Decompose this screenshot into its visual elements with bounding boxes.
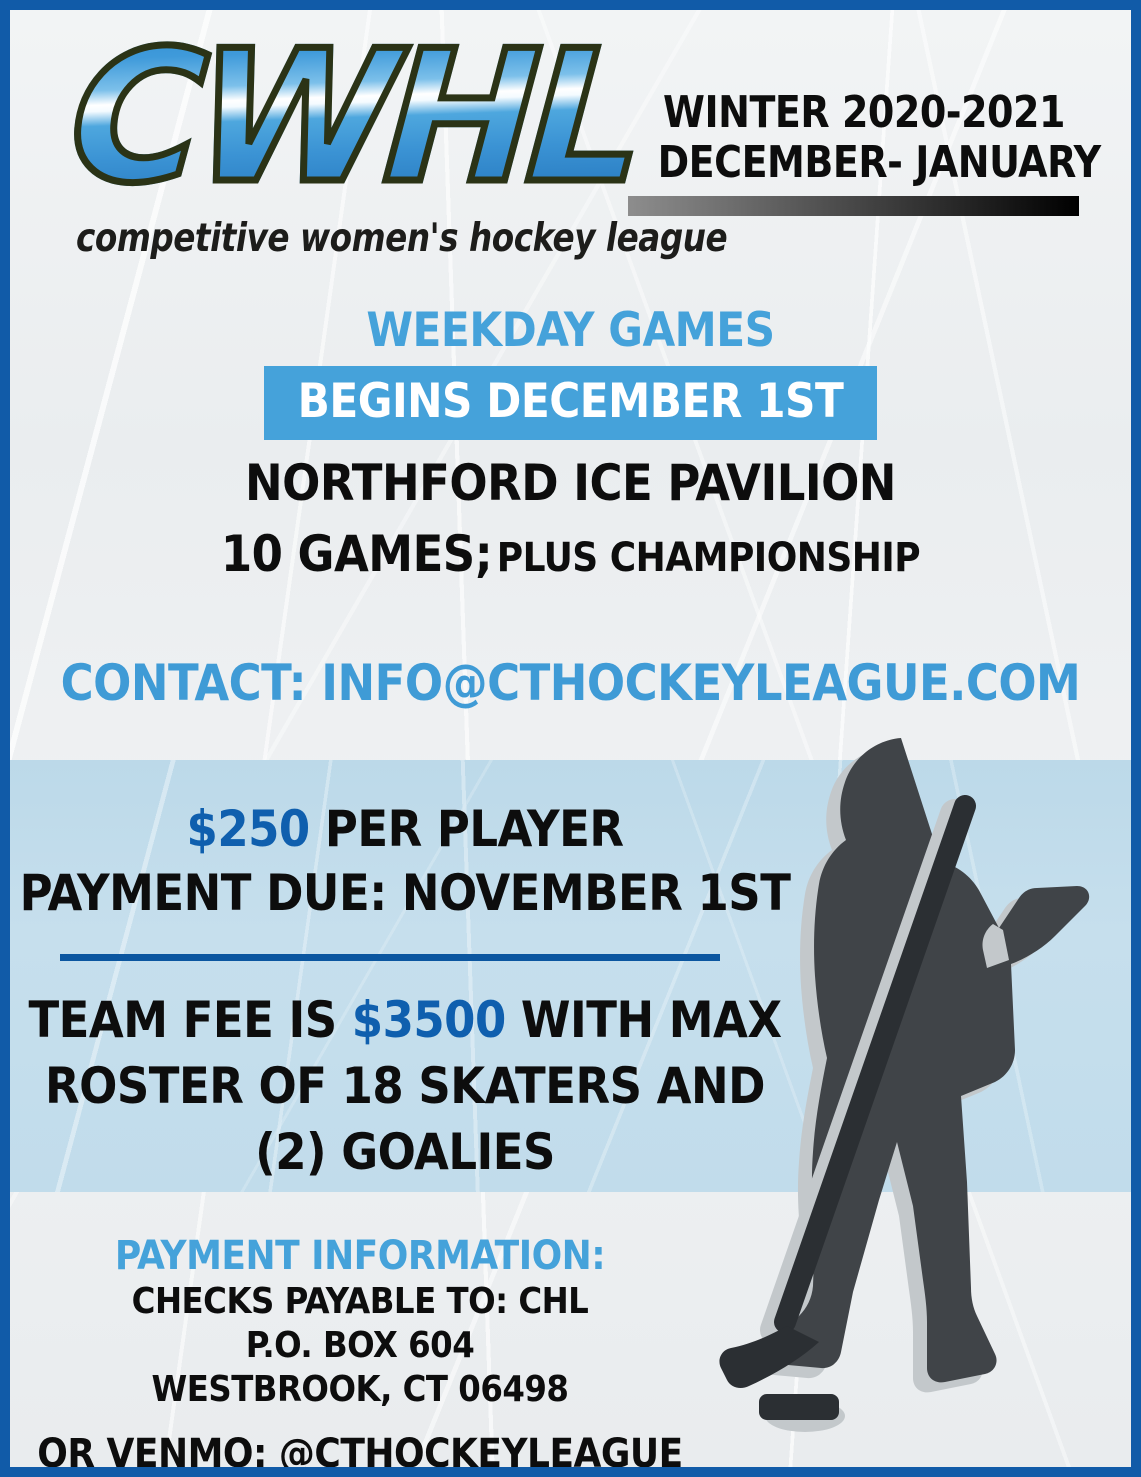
cwhl-logo-tagline: competitive women's hockey league — [76, 218, 612, 260]
season-dates: WINTER 2020-2021 DECEMBER- JANUARY — [649, 88, 1079, 188]
payment-city-line: WESTBROOK, CT 06498 — [10, 1368, 710, 1412]
league-info-block: WEEKDAY GAMES BEGINS DECEMBER 1ST NORTHF… — [10, 304, 1131, 596]
fees-divider — [60, 954, 720, 961]
games-count-line: 10 GAMES; PLUS CHAMPIONSHIP — [10, 524, 1131, 596]
contact-email-line[interactable]: CONTACT: INFO@CTHOCKEYLEAGUE.COM — [10, 654, 1131, 712]
payment-pobox-line: P.O. BOX 604 — [10, 1324, 710, 1368]
payment-venmo-line: OR VENMO: @CTHOCKEYLEAGUE — [10, 1428, 710, 1477]
payment-checks-line: CHECKS PAYABLE TO: CHL — [10, 1280, 710, 1324]
player-fee-amount: $250 — [187, 800, 310, 858]
header-gradient-bar — [628, 196, 1079, 216]
venue-name: NORTHFORD ICE PAVILION — [10, 454, 1131, 512]
games-count: 10 GAMES; — [221, 525, 492, 583]
payment-info-block: PAYMENT INFORMATION: CHECKS PAYABLE TO: … — [10, 1232, 710, 1477]
weekday-games-heading: WEEKDAY GAMES — [10, 304, 1131, 358]
fees-block: $250 PER PLAYER PAYMENT DUE: NOVEMBER 1S… — [10, 798, 800, 1185]
start-date-banner: BEGINS DECEMBER 1ST — [264, 366, 878, 440]
team-fee-suffix: WITH MAX — [521, 991, 782, 1049]
flyer-header: CWHL competitive women's hockey league W… — [10, 10, 1131, 290]
roster-line: ROSTER OF 18 SKATERS AND — [10, 1053, 800, 1119]
flyer-page: CWHL competitive women's hockey league W… — [0, 0, 1141, 1477]
goalies-line: (2) GOALIES — [10, 1119, 800, 1185]
cwhl-logo-mark: CWHL — [65, 22, 658, 212]
team-fee-amount: $3500 — [352, 991, 506, 1049]
team-fee-line-1: TEAM FEE IS $3500 WITH MAX — [10, 987, 800, 1053]
cwhl-logo: CWHL competitive women's hockey league — [72, 22, 652, 260]
payment-info-title: PAYMENT INFORMATION: — [10, 1232, 710, 1280]
payment-due-line: PAYMENT DUE: NOVEMBER 1ST — [10, 862, 800, 924]
games-suffix: PLUS CHAMPIONSHIP — [497, 535, 920, 581]
team-fee-block: TEAM FEE IS $3500 WITH MAX ROSTER OF 18 … — [10, 987, 800, 1185]
player-fee-label: PER PLAYER — [325, 800, 624, 858]
team-fee-prefix: TEAM FEE IS — [28, 991, 336, 1049]
season-year-line: WINTER 2020-2021 — [658, 88, 1071, 138]
player-fee-line: $250 PER PLAYER — [10, 798, 800, 860]
season-months-line: DECEMBER- JANUARY — [658, 138, 1071, 188]
